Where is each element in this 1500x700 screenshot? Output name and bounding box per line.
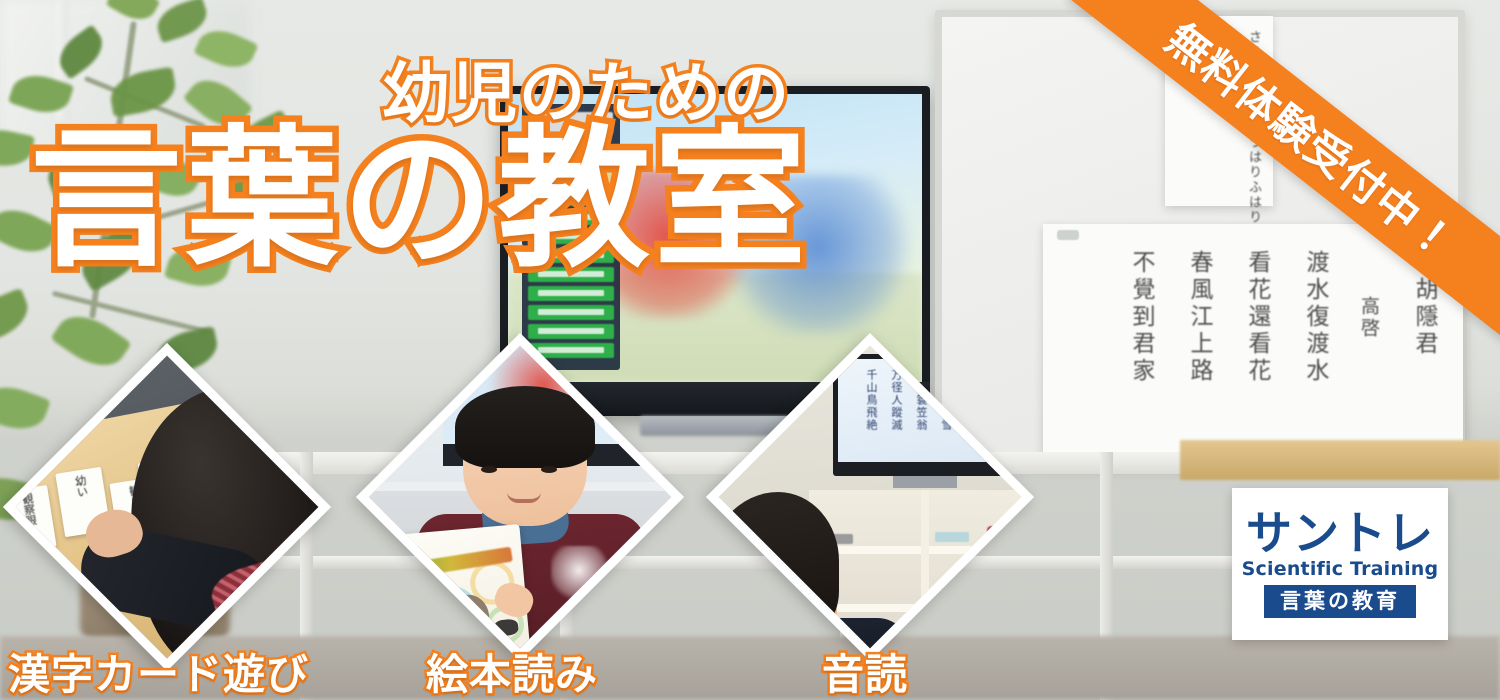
banner-title: 言葉の教室 xyxy=(30,118,810,282)
brand-logo[interactable]: サントレ Scientific Training 言葉の教育 xyxy=(1232,488,1448,640)
poem-author: 高啓 xyxy=(1356,296,1383,340)
poem-line-4: 不覺到君家 xyxy=(1124,250,1158,385)
feature-caption-1: 漢字カード遊び xyxy=(8,641,309,700)
screen-poem-line-1: 千山鳥飛絶 xyxy=(863,369,879,432)
chinese-poem-poster: 尋胡隱君 高啓 渡水復渡水 看花還看花 春風江上路 不覺到君家 xyxy=(1043,224,1463,464)
feature-caption-2: 絵本読み xyxy=(426,641,598,700)
wooden-desk xyxy=(1180,440,1500,480)
feature-caption-3: 音読 xyxy=(822,641,908,700)
poem-line-3: 春風江上路 xyxy=(1182,250,1216,385)
television-stand xyxy=(640,416,790,436)
logo-tagline: 言葉の教育 xyxy=(1264,585,1416,618)
screen-poem-line-2: 万径人蹤滅 xyxy=(888,369,904,432)
logo-kana-text: サントレ xyxy=(1246,510,1434,556)
kanji-card-text: 観察眼 xyxy=(18,492,39,527)
poem-line-2: 看花還看花 xyxy=(1240,250,1274,385)
kanji-card-text: 幼い xyxy=(71,474,90,498)
poem-line-1: 渡水復渡水 xyxy=(1298,250,1332,385)
logo-english-text: Scientific Training xyxy=(1242,560,1439,579)
promotional-banner: さうながつぶつうはりふはりかな 尋胡隱君 高啓 渡水復渡水 看花還看花 春風江上… xyxy=(0,0,1500,700)
